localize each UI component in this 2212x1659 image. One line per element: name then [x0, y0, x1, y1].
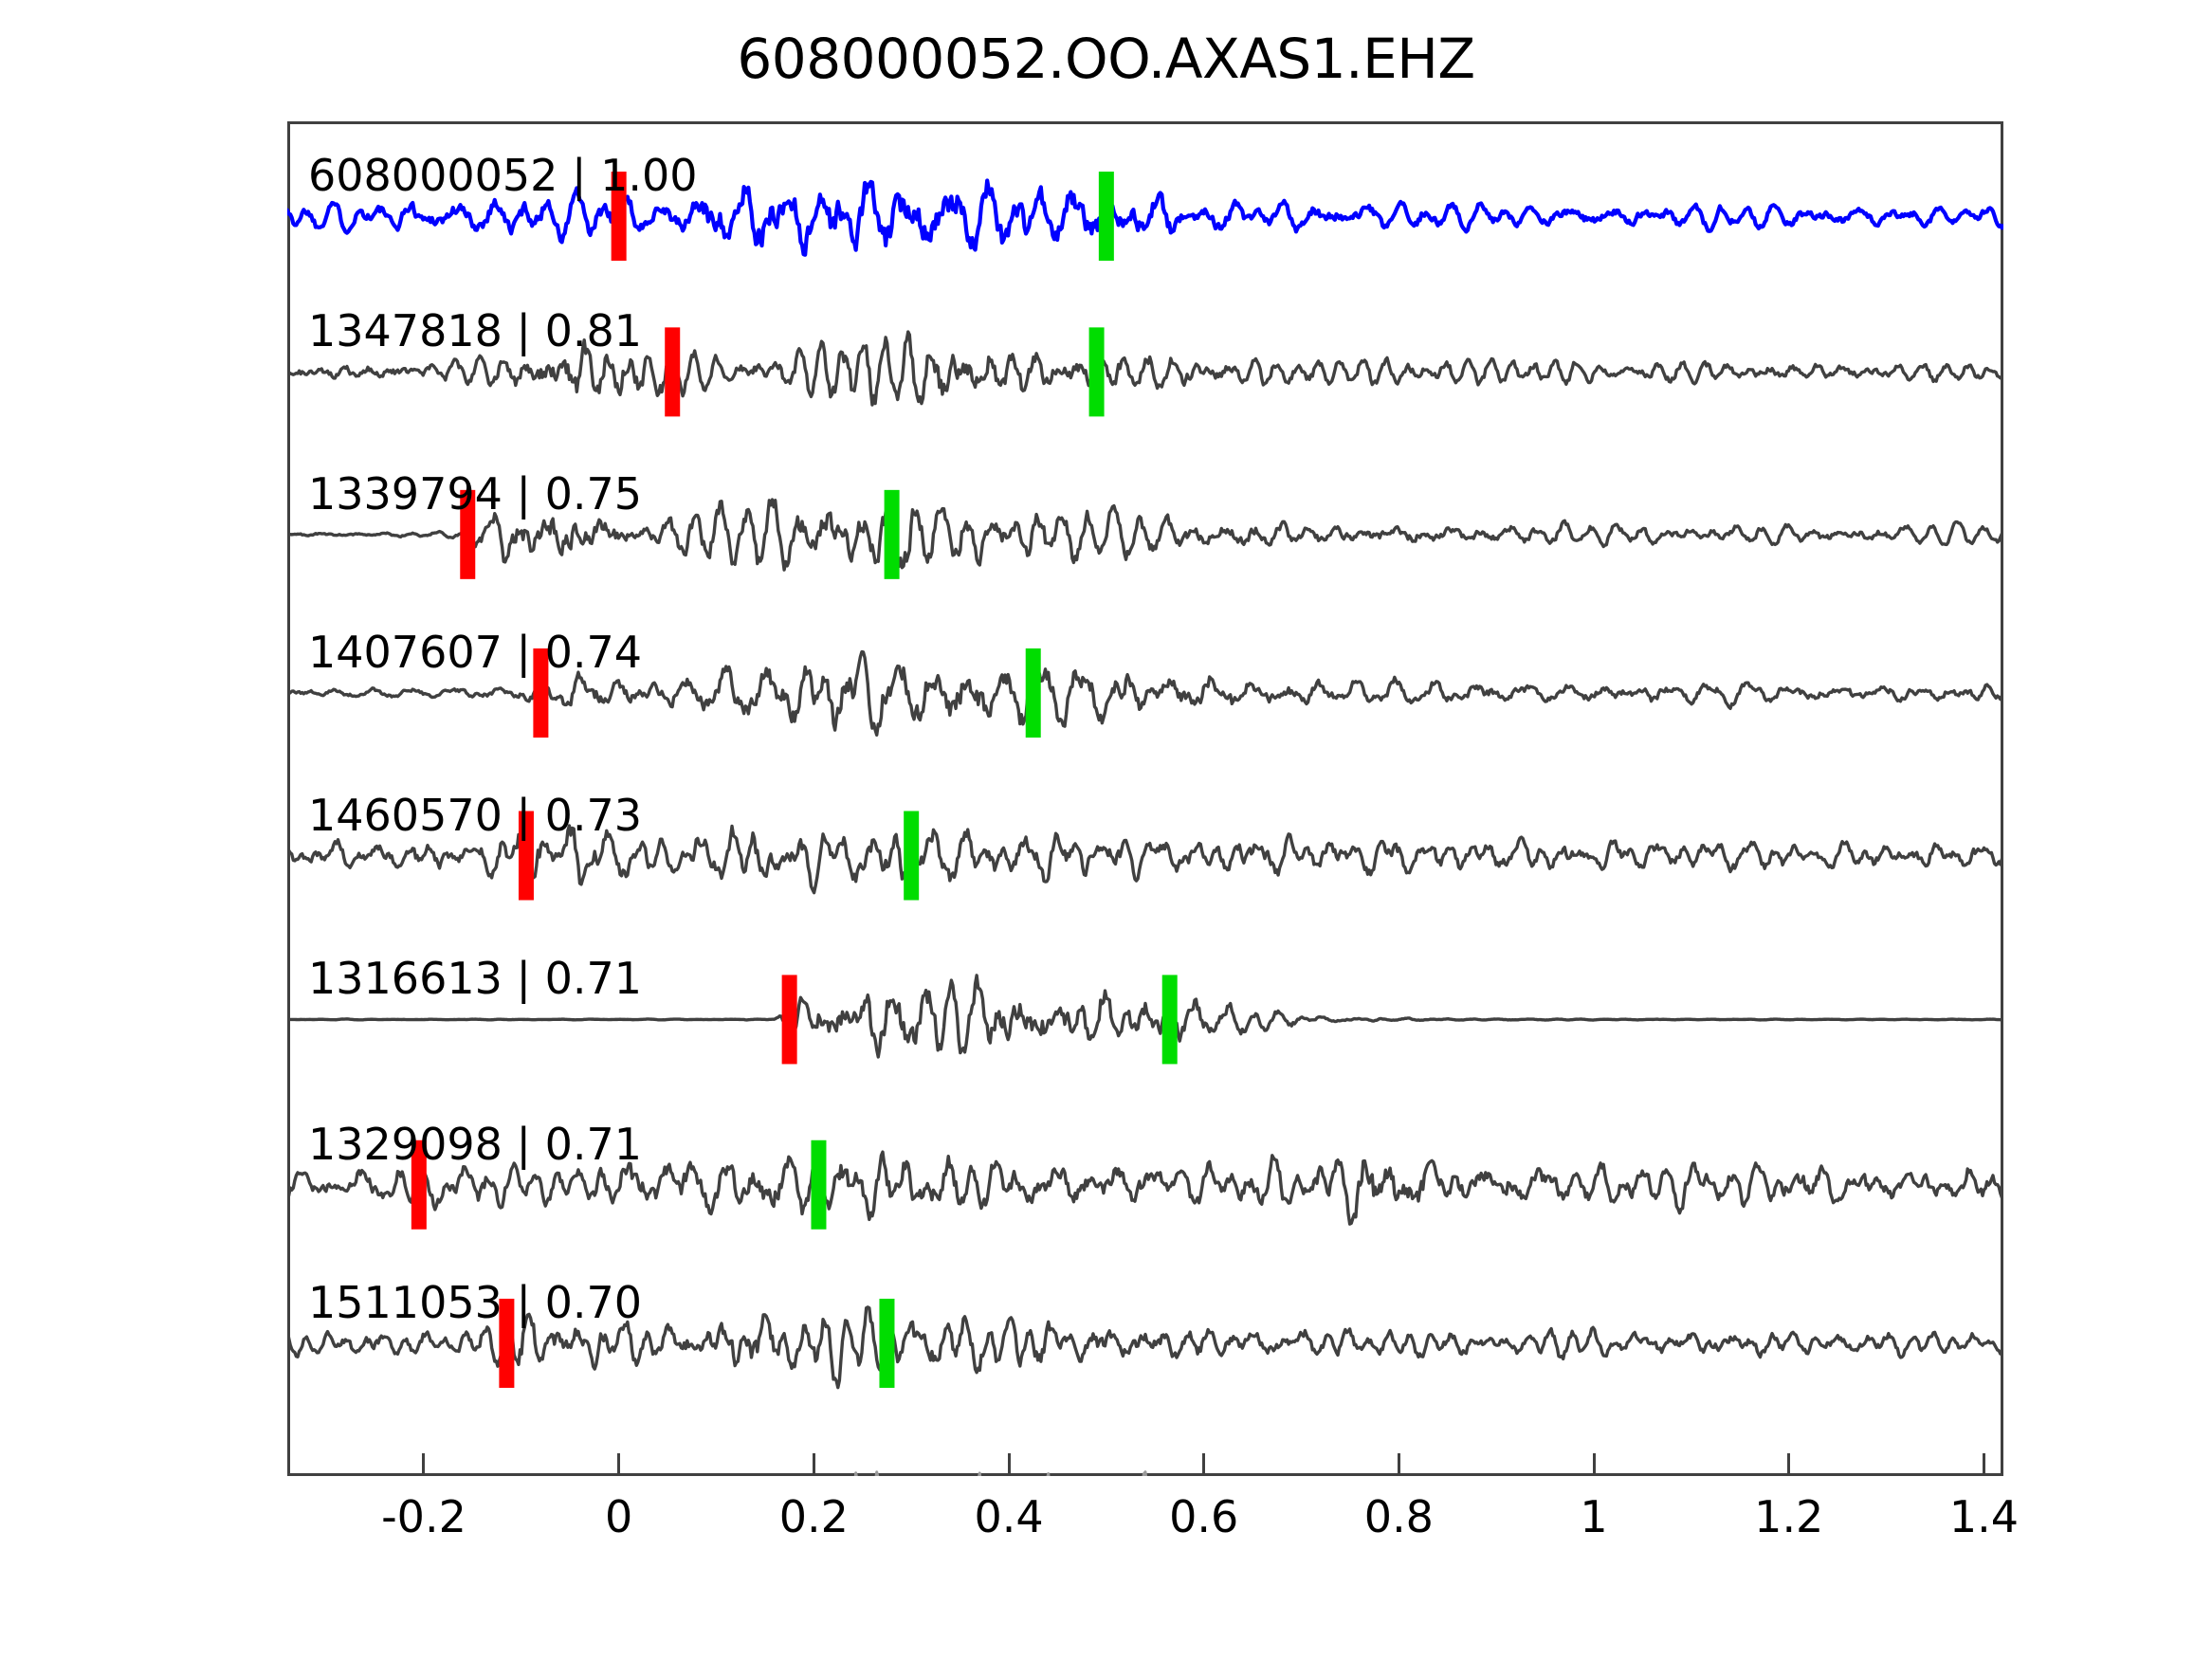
- s-pick-marker: [885, 490, 900, 579]
- trace-label-1407607: 1407607 | 0.74: [308, 627, 642, 678]
- s-pick-marker: [1026, 648, 1041, 738]
- x-axis-tick-label: -0.2: [381, 1491, 466, 1542]
- trace-label-1316613: 1316613 | 0.71: [308, 953, 642, 1004]
- x-axis-tick-label: 1: [1580, 1491, 1607, 1542]
- s-pick-marker: [1089, 327, 1105, 416]
- x-axis-tick-label: 0.8: [1364, 1491, 1434, 1542]
- x-axis-tick-label: 0.4: [974, 1491, 1043, 1542]
- s-pick-marker: [811, 1140, 826, 1230]
- trace-label-608000052: 608000052 | 1.00: [308, 150, 698, 201]
- x-axis-tick-label: 0.6: [1169, 1491, 1238, 1542]
- trace-label-1347818: 1347818 | 0.81: [308, 305, 642, 356]
- s-pick-marker: [904, 811, 919, 901]
- s-pick-marker: [879, 1299, 894, 1388]
- trace-label-1511053: 1511053 | 0.70: [308, 1277, 642, 1328]
- p-pick-marker: [782, 975, 797, 1064]
- x-axis-tick-label: 0: [605, 1491, 632, 1542]
- x-axis-tick-label: 1.4: [1949, 1491, 2019, 1542]
- s-pick-marker: [1099, 172, 1114, 261]
- trace-label-1460570: 1460570 | 0.73: [308, 790, 642, 841]
- trace-label-1329098: 1329098 | 0.71: [308, 1119, 642, 1170]
- p-pick-marker: [665, 327, 680, 416]
- x-axis-tick-label: 0.2: [779, 1491, 849, 1542]
- x-axis-tick-label: 1.2: [1754, 1491, 1823, 1542]
- figure-canvas: 608000052.OO.AXAS1.EHZ 608000052 | 1.001…: [0, 0, 2212, 1659]
- trace-label-1339794: 1339794 | 0.75: [308, 468, 642, 520]
- s-pick-marker: [1162, 975, 1178, 1064]
- stack-gray-trace: [287, 1472, 2003, 1476]
- page-title: 608000052.OO.AXAS1.EHZ: [0, 27, 2212, 91]
